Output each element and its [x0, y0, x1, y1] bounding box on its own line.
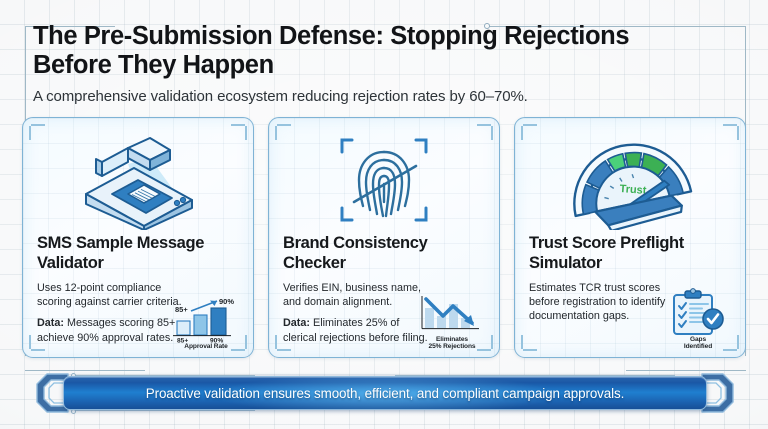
chart-caption-line1: Gaps [690, 336, 706, 343]
card-trust-score-preflight-simulator[interactable]: Trust Trust Score Preflight Simulator Es… [514, 117, 746, 358]
approval-rate-bar-chart: 85+ 90% 85+ 90% Approval Rate [167, 285, 245, 351]
chart-caption-line1: Eliminates [436, 336, 468, 343]
bar-label-right: 90% [219, 297, 234, 306]
card-description: Estimates TCR trust scores before regist… [529, 281, 678, 324]
trust-gauge-icon: Trust [515, 126, 745, 234]
chart-caption: Gaps Identified [684, 336, 712, 351]
document-scanner-icon [23, 126, 253, 234]
chart-caption: Eliminates 25% Rejections [429, 336, 476, 351]
card-brand-consistency-checker[interactable]: Brand Consistency Checker Verifies EIN, … [268, 117, 500, 358]
bottom-banner: Proactive validation ensures smooth, eff… [35, 372, 735, 414]
bar-label-left: 85+ [175, 305, 188, 314]
card-title: Brand Consistency Checker [283, 234, 485, 274]
header: The Pre-Submission Defense: Stopping Rej… [33, 22, 733, 105]
chart-caption-line2: 25% Rejections [429, 343, 476, 350]
card-description: Uses 12-point compliance scoring against… [37, 281, 182, 310]
page-subtitle: A comprehensive validation ecosystem red… [33, 88, 733, 105]
card-data-text: Data: Messages scoring 85+ achieve 90% a… [37, 316, 182, 345]
fingerprint-scan-icon [269, 126, 499, 234]
rejection-decline-chart: Eliminates 25% Rejections [413, 285, 491, 351]
card-sms-sample-message-validator[interactable]: SMS Sample Message Validator Uses 12-poi… [22, 117, 254, 358]
banner-text: Proactive validation ensures smooth, eff… [146, 386, 624, 401]
card-data-label: Data: [283, 317, 310, 329]
banner-plate: Proactive validation ensures smooth, eff… [63, 376, 707, 410]
card-data-label: Data: [37, 317, 64, 329]
card-description: Verifies EIN, business name, and domain … [283, 281, 428, 310]
card-title: Trust Score Preflight Simulator [529, 234, 731, 274]
card-title: SMS Sample Message Validator [37, 234, 239, 274]
gaps-identified-checklist: Gaps Identified [659, 285, 737, 351]
feature-cards: SMS Sample Message Validator Uses 12-poi… [22, 117, 746, 358]
chart-caption-line2: Identified [684, 343, 712, 350]
page-title: The Pre-Submission Defense: Stopping Rej… [33, 22, 705, 80]
chart-caption: Approval Rate [184, 343, 227, 351]
card-data-text: Data: Eliminates 25% of clerical rejecti… [283, 316, 428, 345]
corner-bracket-icon [521, 335, 537, 351]
